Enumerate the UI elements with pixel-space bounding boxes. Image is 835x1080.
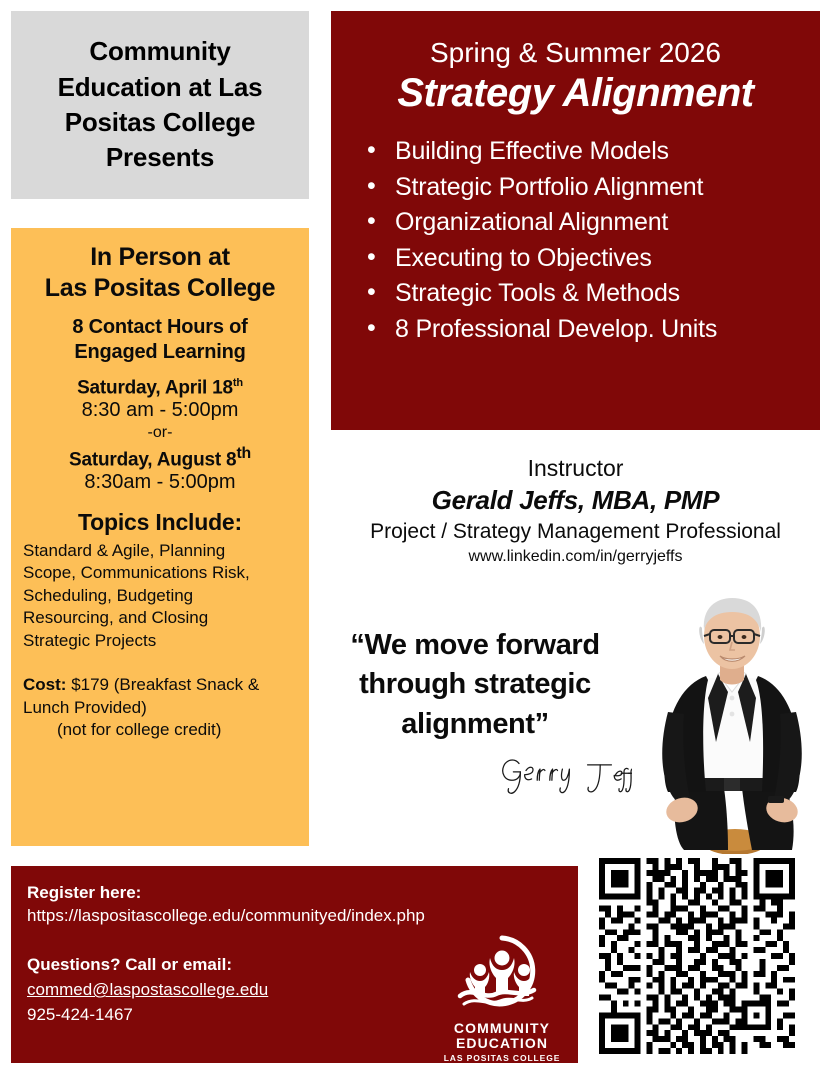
- session2-date-text: Saturday, August 8: [69, 449, 236, 470]
- register-label: Register here:: [27, 882, 562, 904]
- hero-bullet: Building Effective Models: [367, 134, 806, 170]
- signature-gerry-jeffs: [498, 752, 638, 796]
- hero-title: Strategy Alignment: [345, 71, 806, 116]
- instructor-photo: [632, 592, 832, 854]
- hero-bullet: 8 Professional Develop. Units: [367, 312, 806, 348]
- details-heading: In Person at Las Positas College: [23, 242, 297, 303]
- topics-line: Scope, Communications Risk,: [23, 562, 297, 584]
- quote-text: “We move forward through strategic align…: [315, 626, 635, 744]
- topics-title: Topics Include:: [23, 509, 297, 536]
- presenter-box: Community Education at Las Positas Colle…: [11, 11, 309, 199]
- qr-code[interactable]: [599, 858, 795, 1054]
- topics-line: Strategic Projects: [23, 630, 297, 652]
- details-heading-line2: Las Positas College: [23, 273, 297, 304]
- instructor-name: Gerald Jeffs, MBA, PMP: [331, 484, 820, 517]
- instructor-block: Instructor Gerald Jeffs, MBA, PMP Projec…: [331, 455, 820, 568]
- flyer-page: Community Education at Las Positas Colle…: [0, 0, 835, 1080]
- hero-bullet: Strategic Tools & Methods: [367, 276, 806, 312]
- details-subheading: 8 Contact Hours of Engaged Learning: [23, 315, 297, 365]
- session2-time: 8:30am - 5:00pm: [23, 471, 297, 495]
- session-separator: -or-: [23, 423, 297, 443]
- instructor-linkedin-link[interactable]: www.linkedin.com/in/gerryjeffs: [331, 547, 820, 568]
- details-subheading-line2: Engaged Learning: [23, 340, 297, 365]
- hero-bullet-list: Building Effective Models Strategic Port…: [345, 134, 806, 347]
- details-subheading-line1: 8 Contact Hours of: [23, 315, 297, 340]
- hero-kicker: Spring & Summer 2026: [345, 37, 806, 69]
- logo-text: COMMUNITY EDUCATION LAS POSITAS COLLEGE: [438, 1021, 566, 1063]
- session2-date: Saturday, August 8th: [23, 445, 297, 471]
- topics-line: Resourcing, and Closing: [23, 607, 297, 629]
- logo-line-1: COMMUNITY: [438, 1021, 566, 1036]
- cost-note: (not for college credit): [23, 720, 297, 740]
- hero-box: Spring & Summer 2026 Strategy Alignment …: [331, 11, 820, 430]
- details-heading-line1: In Person at: [23, 242, 297, 273]
- details-box: In Person at Las Positas College 8 Conta…: [11, 228, 309, 846]
- hero-bullet: Strategic Portfolio Alignment: [367, 170, 806, 206]
- topics-line: Standard & Agile, Planning: [23, 540, 297, 562]
- presenter-text: Community Education at Las Positas Colle…: [11, 34, 309, 175]
- logo-line-2: EDUCATION: [438, 1036, 566, 1051]
- logo-line-3: LAS POSITAS COLLEGE: [438, 1053, 566, 1063]
- session1-date-text: Saturday, April 18: [77, 377, 233, 398]
- register-url[interactable]: https://laspositascollege.edu/communitye…: [27, 905, 562, 928]
- topics-line: Scheduling, Budgeting: [23, 585, 297, 607]
- community-education-logo: COMMUNITY EDUCATION LAS POSITAS COLLEGE: [438, 934, 566, 1056]
- cost-line: Cost: $179 (Breakfast Snack & Lunch Prov…: [23, 674, 297, 720]
- hero-bullet: Executing to Objectives: [367, 241, 806, 277]
- cost-label: Cost:: [23, 675, 66, 694]
- session2-date-suffix: th: [236, 445, 251, 462]
- session1-time: 8:30 am - 5:00pm: [23, 399, 297, 423]
- topics-list: Standard & Agile, Planning Scope, Commun…: [23, 540, 297, 652]
- instructor-role: Project / Strategy Management Profession…: [331, 519, 820, 545]
- session1-date: Saturday, April 18th: [23, 377, 297, 399]
- instructor-label: Instructor: [331, 455, 820, 483]
- hero-bullet: Organizational Alignment: [367, 205, 806, 241]
- session1-date-suffix: th: [233, 377, 243, 389]
